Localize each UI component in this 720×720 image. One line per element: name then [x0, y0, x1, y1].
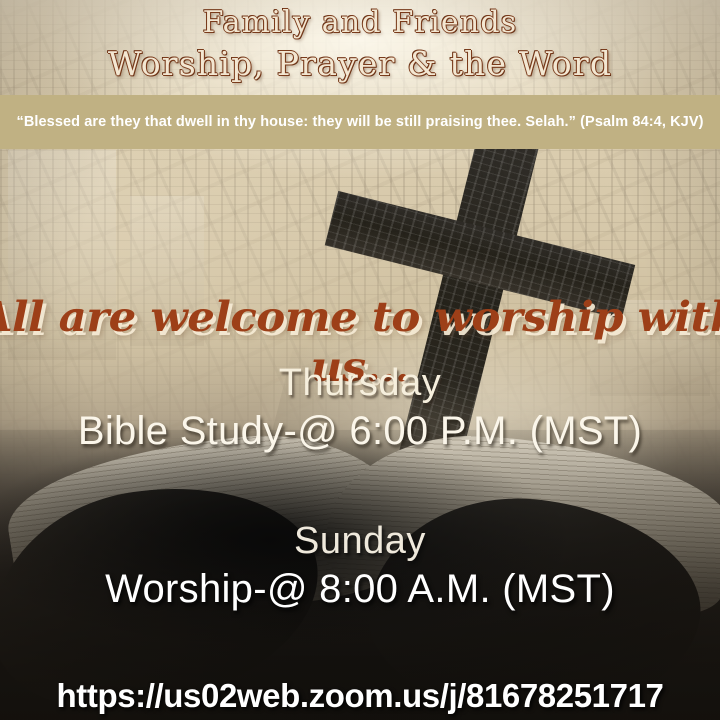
schedule-item-thursday: Thursday Bible Study-@ 6:00 P.M. (MST) [0, 360, 720, 456]
title-line-2: Worship, Prayer & the Word [0, 43, 720, 84]
schedule-time-thursday: Bible Study-@ 6:00 P.M. (MST) [0, 406, 720, 456]
schedule-day-sunday: Sunday [0, 518, 720, 564]
schedule-item-sunday: Sunday Worship-@ 8:00 A.M. (MST) [0, 518, 720, 614]
church-service-flyer: Family and Friends Worship, Prayer & the… [0, 0, 720, 720]
title-line-1: Family and Friends [0, 2, 720, 43]
scripture-banner: “Blessed are they that dwell in thy hous… [0, 95, 720, 149]
zoom-meeting-link[interactable]: https://us02web.zoom.us/j/81678251717 [0, 676, 720, 716]
page-title: Family and Friends Worship, Prayer & the… [0, 2, 720, 84]
schedule-time-sunday: Worship-@ 8:00 A.M. (MST) [0, 564, 720, 614]
scripture-text: “Blessed are they that dwell in thy hous… [10, 112, 709, 133]
schedule-day-thursday: Thursday [0, 360, 720, 406]
